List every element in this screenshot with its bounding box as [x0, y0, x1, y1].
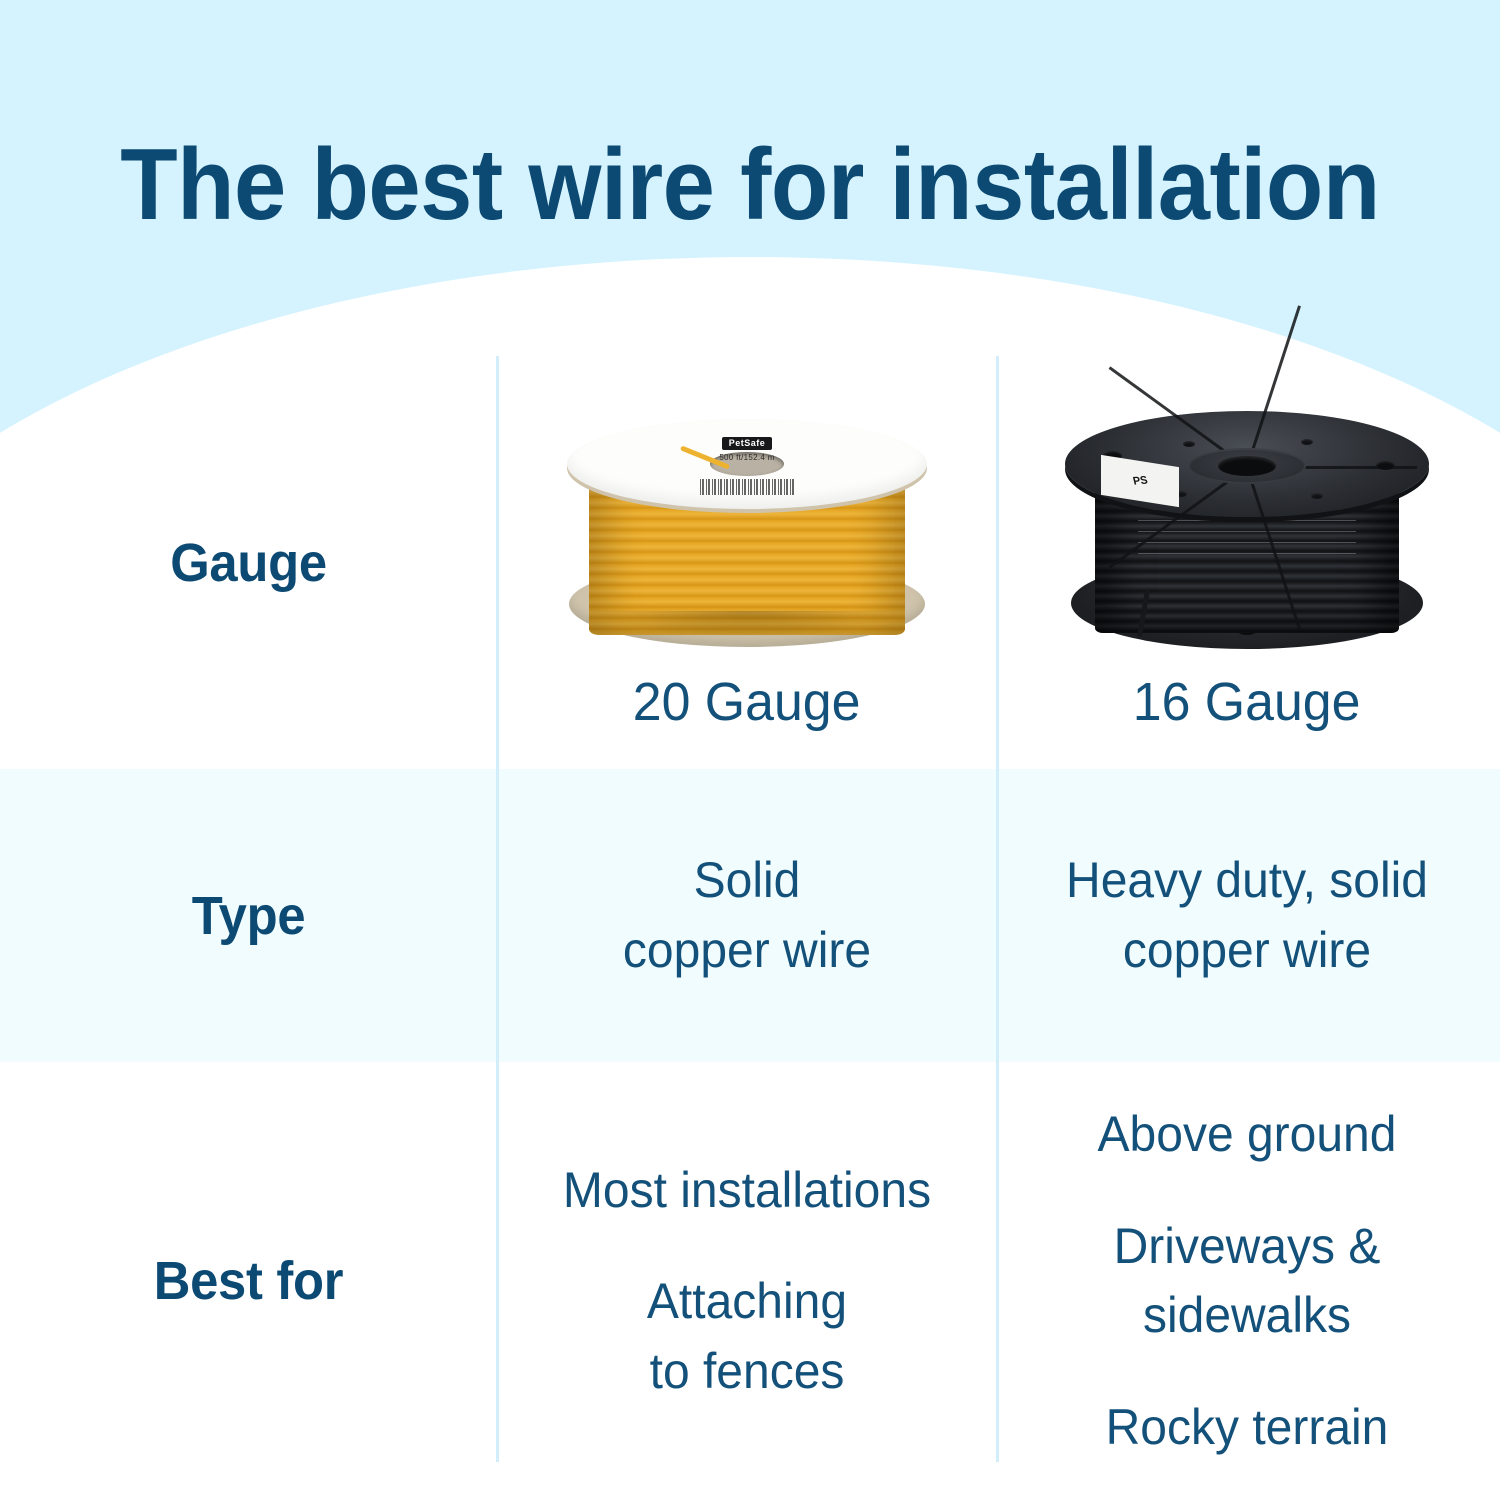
row-label-best-for: Best for: [15, 1250, 482, 1312]
infographic-page: The best wire for installation Gauge Pet…: [0, 0, 1500, 1500]
type-cell-20-gauge: Solid copper wire: [507, 847, 987, 984]
spool-top-flange: PetSafe 500 ft/152.4 m: [567, 419, 927, 509]
spool-label: PetSafe 500 ft/152.4 m: [647, 433, 847, 462]
table-row-type: Type Solid copper wire Heavy duty, solid…: [0, 769, 1500, 1062]
barcode-icon: [700, 479, 794, 495]
best-for-item: Rocky terrain: [1007, 1394, 1487, 1462]
page-title: The best wire for installation: [53, 132, 1448, 238]
gauge-caption-16: 16 Gauge: [1133, 671, 1361, 733]
bolt-hole-icon: [1183, 441, 1195, 447]
best-for-item: Most installations: [507, 1157, 987, 1225]
product-cell-16-gauge: PS 16 Gauge: [997, 393, 1497, 733]
best-for-item: Driveways &: [1007, 1213, 1487, 1281]
best-for-item: Attaching: [507, 1268, 987, 1336]
column-divider-right: [996, 356, 999, 1462]
comparison-table: Gauge PetSafe 500 ft/152.4 m: [0, 356, 1500, 1500]
yellow-wire-spool-image: PetSafe 500 ft/152.4 m: [561, 403, 933, 653]
gauge-caption-20: 20 Gauge: [633, 671, 861, 733]
spacer: [1007, 1350, 1487, 1394]
row-label-gauge: Gauge: [15, 532, 482, 594]
type-line: Solid: [507, 847, 987, 915]
best-for-item: to fences: [507, 1338, 987, 1406]
spacer: [507, 1224, 987, 1268]
column-divider-left: [496, 356, 499, 1462]
best-for-item: sidewalks: [1007, 1282, 1487, 1350]
spacer: [1007, 1169, 1487, 1213]
length-text: 500 ft/152.4 m: [647, 453, 847, 462]
spool-center-hole: [1218, 456, 1276, 476]
brand-badge: PetSafe: [722, 437, 773, 450]
best-for-cell-16-gauge: Above ground Driveways & sidewalks Rocky…: [1007, 1101, 1487, 1461]
type-cell-16-gauge: Heavy duty, solid copper wire: [1007, 847, 1487, 984]
best-for-cell-20-gauge: Most installations Attaching to fences: [507, 1157, 987, 1406]
bolt-hole-icon: [1301, 439, 1313, 445]
product-cell-20-gauge: PetSafe 500 ft/152.4 m 20 Gauge: [497, 393, 997, 733]
table-row-best-for: Best for Most installations Attaching to…: [0, 1062, 1500, 1500]
bolt-hole-icon: [1311, 493, 1323, 499]
row-label-type: Type: [15, 885, 482, 947]
type-line: copper wire: [507, 917, 987, 985]
spool-top-flange: PS: [1065, 411, 1429, 517]
wire-tail: [1137, 588, 1150, 636]
bolt-hole-icon: [1376, 461, 1395, 470]
spool-label: PS: [1101, 454, 1179, 506]
table-row-gauge: Gauge PetSafe 500 ft/152.4 m: [0, 356, 1500, 769]
type-line: copper wire: [1007, 917, 1487, 985]
brand-badge: PS: [1131, 474, 1148, 487]
black-wire-spool-image: PS: [1061, 403, 1433, 653]
type-line: Heavy duty, solid: [1007, 847, 1487, 915]
best-for-item: Above ground: [1007, 1101, 1487, 1169]
